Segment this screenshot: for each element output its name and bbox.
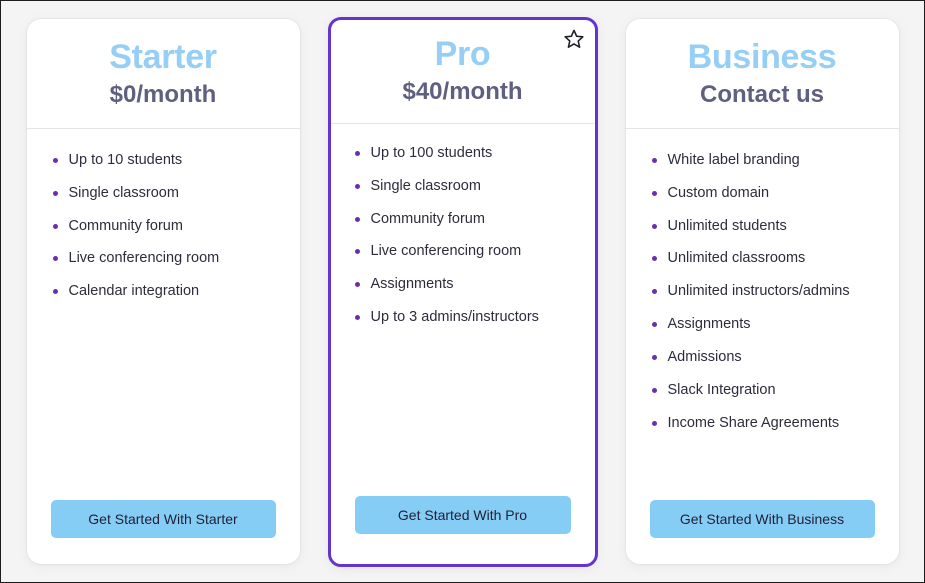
feature-item: Community forum [53, 217, 300, 236]
feature-item: Calendar integration [53, 282, 300, 301]
browser-viewport: Starter $0/month Up to 10 students Singl… [0, 0, 925, 583]
plan-price-business: Contact us [642, 81, 883, 110]
feature-item: Assignments [355, 275, 595, 294]
pricing-plan-grid: Starter $0/month Up to 10 students Singl… [1, 1, 924, 582]
plan-price-starter: $0/month [43, 81, 284, 110]
pricing-card-business: Business Contact us White label branding… [626, 19, 899, 564]
feature-item: Assignments [652, 315, 899, 334]
feature-list-business: White label branding Custom domain Unlim… [626, 129, 899, 500]
feature-item: Admissions [652, 348, 899, 367]
get-started-starter-button[interactable]: Get Started With Starter [51, 500, 276, 538]
plan-name-business: Business [642, 37, 883, 77]
feature-item: Single classroom [53, 184, 300, 203]
plan-name-pro: Pro [347, 34, 579, 74]
feature-item: Unlimited instructors/admins [652, 282, 899, 301]
feature-item: Custom domain [652, 184, 899, 203]
feature-item: Live conferencing room [355, 242, 595, 261]
pricing-card-pro: Pro $40/month Up to 100 students Single … [328, 17, 598, 567]
card-footer-pro: Get Started With Pro [331, 496, 595, 564]
card-header-business: Business Contact us [626, 19, 899, 129]
card-header-pro: Pro $40/month [331, 20, 595, 124]
feature-list-pro: Up to 100 students Single classroom Comm… [331, 124, 595, 496]
feature-list-starter: Up to 10 students Single classroom Commu… [27, 129, 300, 500]
card-header-starter: Starter $0/month [27, 19, 300, 129]
pricing-card-starter: Starter $0/month Up to 10 students Singl… [27, 19, 300, 564]
feature-item: Up to 3 admins/instructors [355, 308, 595, 327]
card-footer-starter: Get Started With Starter [27, 500, 300, 564]
feature-item: Up to 100 students [355, 144, 595, 163]
plan-name-starter: Starter [43, 37, 284, 77]
get-started-business-button[interactable]: Get Started With Business [650, 500, 875, 538]
feature-item: Income Share Agreements [652, 414, 899, 433]
plan-price-pro: $40/month [347, 78, 579, 107]
star-outline-icon[interactable] [563, 28, 585, 50]
feature-item: Unlimited classrooms [652, 249, 899, 268]
get-started-pro-button[interactable]: Get Started With Pro [355, 496, 571, 534]
feature-item: Unlimited students [652, 217, 899, 236]
card-footer-business: Get Started With Business [626, 500, 899, 564]
feature-item: Slack Integration [652, 381, 899, 400]
feature-item: Single classroom [355, 177, 595, 196]
feature-item: Live conferencing room [53, 249, 300, 268]
feature-item: Up to 10 students [53, 151, 300, 170]
feature-item: Community forum [355, 210, 595, 229]
feature-item: White label branding [652, 151, 899, 170]
